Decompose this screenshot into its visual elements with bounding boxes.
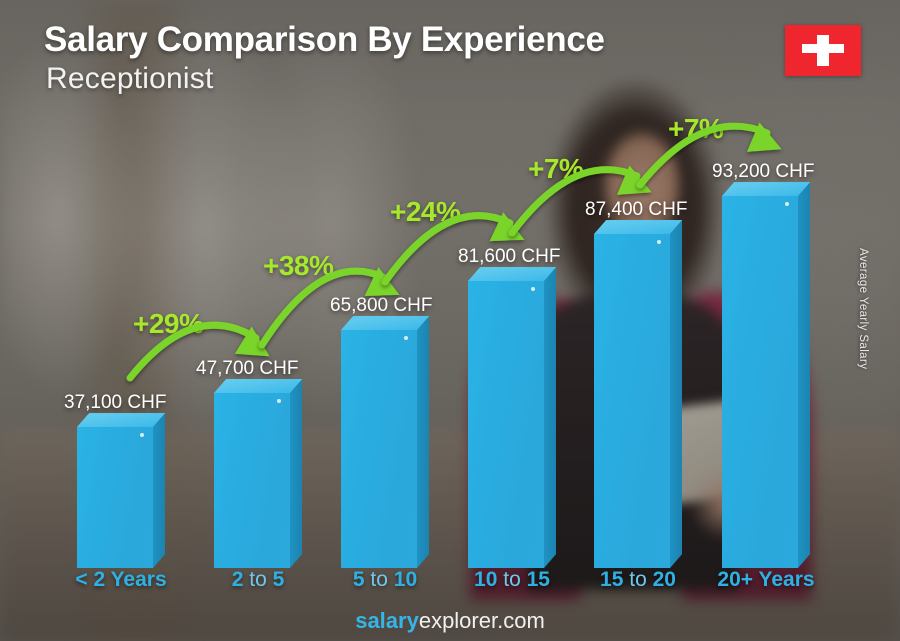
- bar-top-face: [77, 413, 165, 427]
- bar-top-face: [214, 379, 302, 393]
- bar-front-face: [594, 234, 670, 568]
- growth-label-1: +29%: [133, 308, 203, 340]
- bar-2: [214, 379, 290, 568]
- value-label-6: 93,200 CHF: [712, 161, 814, 183]
- category-label-2: 2 to 5: [188, 568, 328, 592]
- brand-rest: explorer.com: [419, 608, 545, 633]
- bar-1: [77, 413, 153, 568]
- bar-highlight: [140, 433, 144, 437]
- bar-top-face: [594, 220, 682, 234]
- bar-front-face: [722, 196, 798, 568]
- bar-chart-plot: 37,100 CHF< 2 Years47,700 CHF2 to 565,80…: [0, 0, 900, 641]
- site-footer: salaryexplorer.com: [0, 608, 900, 634]
- bar-side-face: [798, 182, 810, 568]
- growth-label-5: +7%: [668, 113, 723, 145]
- bar-front-face: [341, 330, 417, 568]
- brand-bold: salary: [355, 608, 419, 633]
- bar-side-face: [417, 316, 429, 568]
- category-label-3: 5 to 10: [315, 568, 455, 592]
- category-label-5: 15 to 20: [568, 568, 708, 592]
- bar-top-face: [722, 182, 810, 196]
- bar-highlight: [531, 287, 535, 291]
- bar-front-face: [77, 427, 153, 568]
- bar-3: [341, 316, 417, 568]
- bar-front-face: [468, 281, 544, 568]
- bar-top-face: [468, 267, 556, 281]
- category-label-1: < 2 Years: [51, 568, 191, 592]
- bar-6: [722, 182, 798, 568]
- bar-side-face: [153, 413, 165, 568]
- category-label-6: 20+ Years: [696, 568, 836, 592]
- growth-label-3: +24%: [390, 196, 460, 228]
- bar-front-face: [214, 393, 290, 568]
- bar-highlight: [785, 202, 789, 206]
- chart-canvas: Salary Comparison By Experience Receptio…: [0, 0, 900, 641]
- bar-side-face: [544, 267, 556, 568]
- growth-label-4: +7%: [528, 153, 583, 185]
- bar-5: [594, 220, 670, 568]
- bar-highlight: [657, 240, 661, 244]
- category-label-4: 10 to 15: [442, 568, 582, 592]
- bar-highlight: [404, 336, 408, 340]
- bar-side-face: [670, 220, 682, 568]
- bar-4: [468, 267, 544, 568]
- bar-side-face: [290, 379, 302, 568]
- value-label-3: 65,800 CHF: [330, 295, 432, 317]
- value-label-5: 87,400 CHF: [585, 199, 687, 221]
- value-label-4: 81,600 CHF: [458, 246, 560, 268]
- bar-top-face: [341, 316, 429, 330]
- value-label-1: 37,100 CHF: [64, 392, 166, 414]
- value-label-2: 47,700 CHF: [196, 358, 298, 380]
- bar-highlight: [277, 399, 281, 403]
- growth-label-2: +38%: [263, 250, 333, 282]
